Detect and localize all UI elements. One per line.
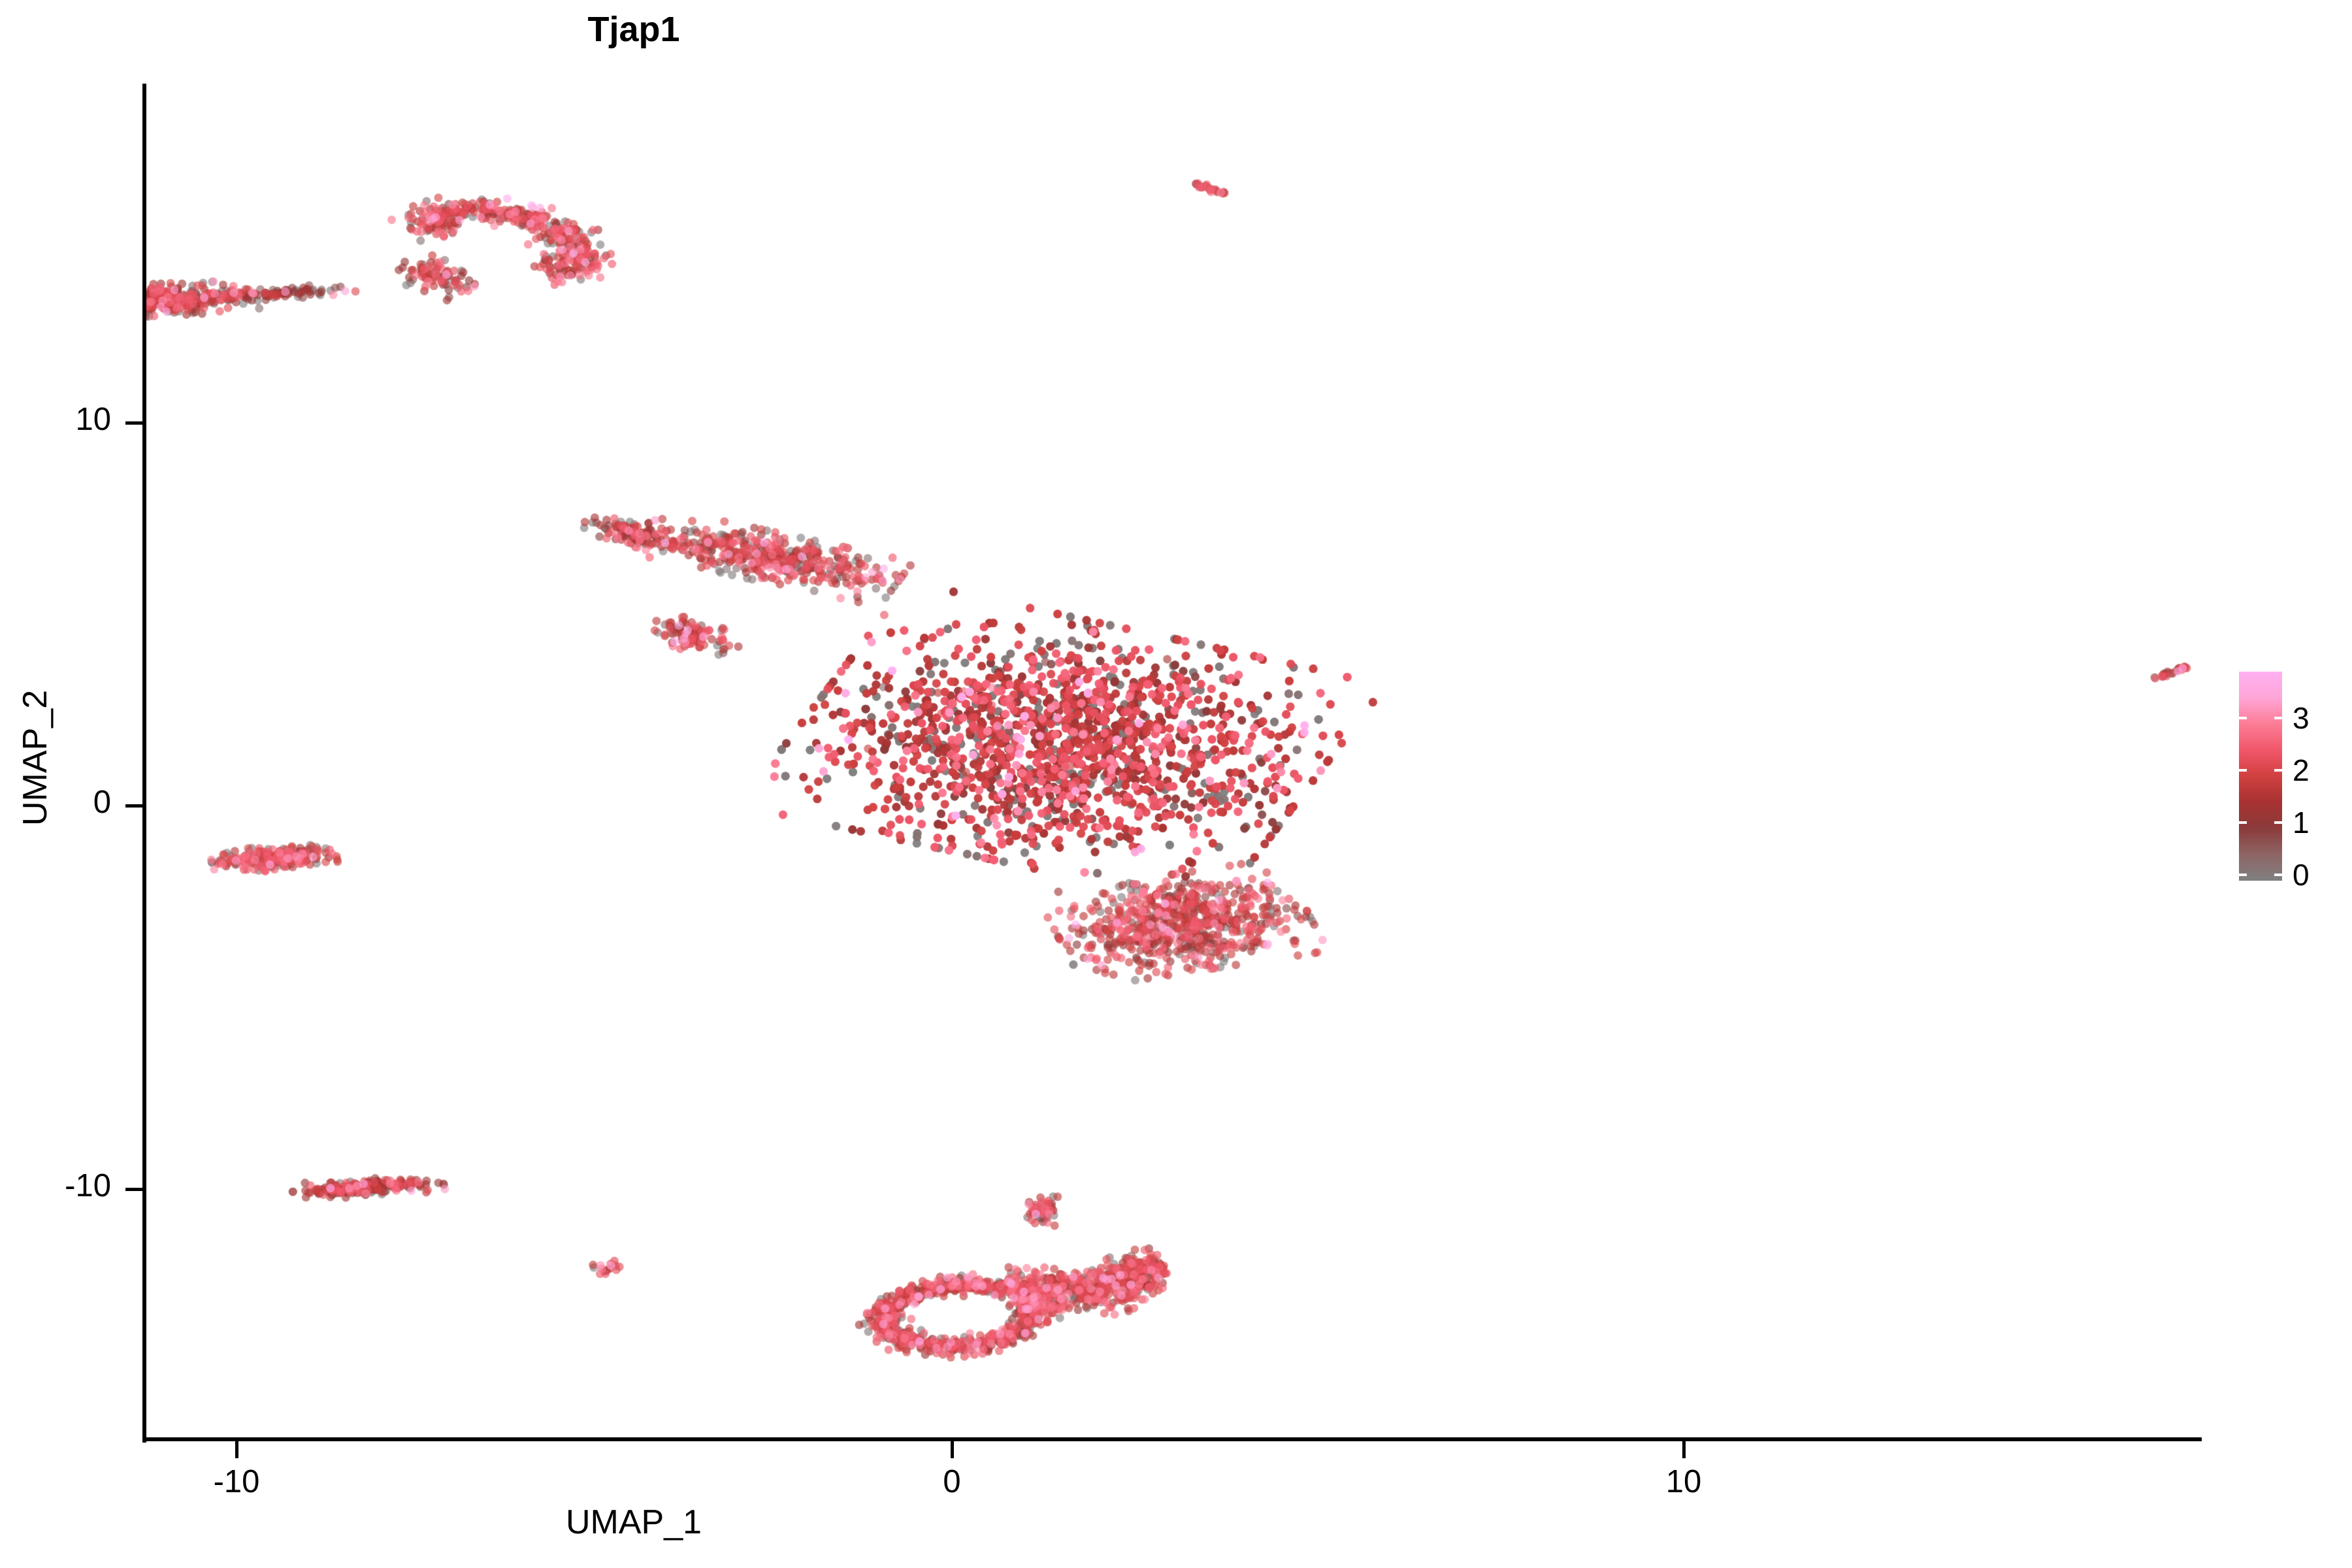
y-tick-label-10: 10 [0,401,111,438]
y-axis-label: UMAP_2 [16,653,55,862]
x-tick-mark--10 [235,1441,238,1458]
plot-root: Tjap1 -10 0 10 10 0 -10 UMAP_1 UMAP_2 3 … [0,0,2352,1568]
colorbar-tick-2-right [2274,769,2282,772]
x-tick-label--10: -10 [171,1463,302,1500]
y-tick-mark--10 [125,1188,142,1191]
x-tick-label-10: 10 [1618,1463,1749,1500]
colorbar-tick-3-right [2274,717,2282,719]
colorbar-tick-3-left [2239,717,2247,719]
y-axis-line [142,84,146,1443]
x-tick-label-0: 0 [887,1463,1017,1500]
colorbar-tick-0-left [2239,874,2247,876]
y-tick-mark-0 [125,804,142,808]
scatter-plot-canvas [144,85,2202,1439]
page-title: Tjap1 [0,9,1810,50]
plot-panel [144,85,2202,1439]
x-axis-line [142,1437,2202,1441]
colorbar-label-2: 2 [2293,755,2310,785]
colorbar-tick-1-left [2239,821,2247,824]
colorbar-tick-2-left [2239,769,2247,772]
colorbar-gradient [2239,672,2282,881]
colorbar-label-1: 1 [2293,808,2310,838]
y-tick-label--10: -10 [0,1168,111,1204]
colorbar-label-0: 0 [2293,860,2310,890]
x-tick-mark-10 [1682,1441,1686,1458]
colorbar-legend: 3 2 1 0 [2239,672,2282,881]
colorbar-tick-0-right [2274,874,2282,876]
colorbar-tick-1-right [2274,821,2282,824]
x-tick-mark-0 [951,1441,954,1458]
y-tick-mark-10 [125,421,142,425]
x-axis-label: UMAP_1 [0,1503,1810,1542]
colorbar-label-3: 3 [2293,703,2310,733]
